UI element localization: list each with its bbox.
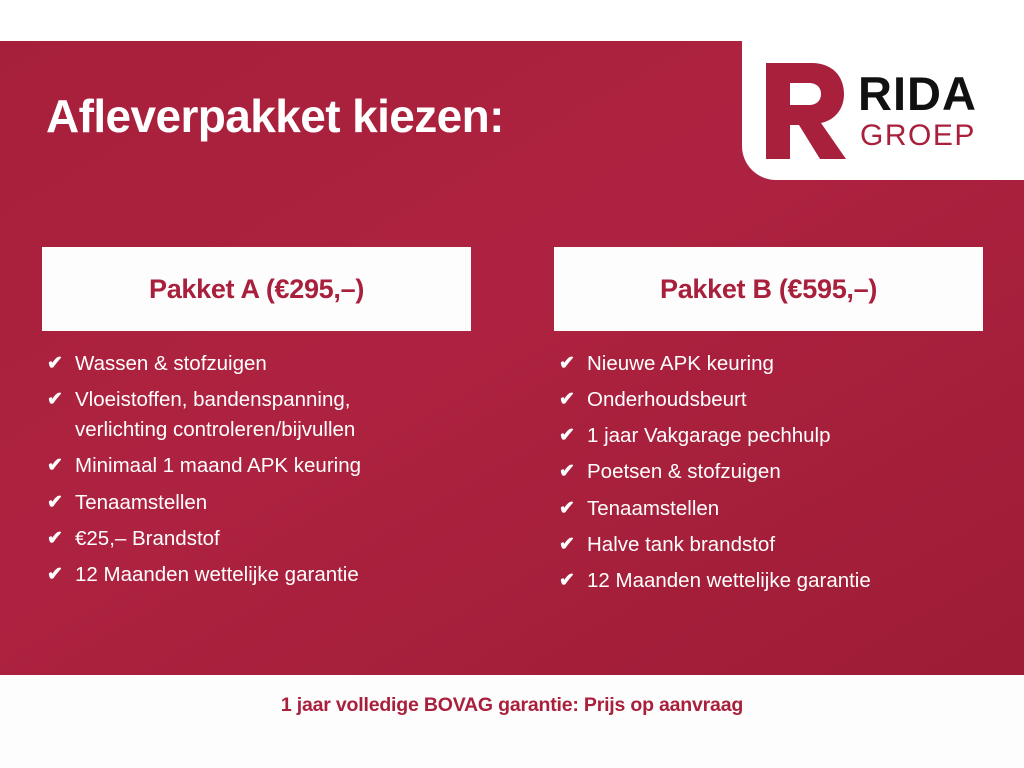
package-a-title: Pakket A (€295,–) (149, 274, 364, 305)
feature-label: Tenaamstellen (75, 488, 207, 518)
list-item: ✔ Wassen & stofzuigen (44, 349, 471, 379)
check-icon: ✔ (556, 530, 578, 559)
list-item: ✔ 12 Maanden wettelijke garantie (556, 566, 983, 596)
footer-bar: 1 jaar volledige BOVAG garantie: Prijs o… (0, 675, 1024, 768)
check-icon: ✔ (44, 524, 66, 553)
feature-label: Nieuwe APK keuring (587, 349, 774, 379)
slide-canvas: RIDA GROEP Afleverpakket kiezen: Pakket … (0, 0, 1024, 768)
list-item: ✔ 1 jaar Vakgarage pechhulp (556, 421, 983, 451)
package-column-b: Pakket B (€595,–) ✔ Nieuwe APK keuring ✔… (554, 247, 983, 602)
packages-container: Pakket A (€295,–) ✔ Wassen & stofzuigen … (0, 247, 1024, 647)
feature-label: 1 jaar Vakgarage pechhulp (587, 421, 831, 451)
rida-r-monogram-icon (756, 59, 848, 163)
list-item: ✔ 12 Maanden wettelijke garantie (44, 560, 471, 590)
check-icon: ✔ (44, 451, 66, 480)
feature-label: Vloeistoffen, bandenspanning, verlichtin… (75, 385, 355, 445)
feature-label: Wassen & stofzuigen (75, 349, 267, 379)
check-icon: ✔ (556, 385, 578, 414)
list-item: ✔ Poetsen & stofzuigen (556, 457, 983, 487)
check-icon: ✔ (556, 566, 578, 595)
feature-label: Tenaamstellen (587, 494, 719, 524)
brand-wordmark: RIDA GROEP (858, 70, 977, 151)
check-icon: ✔ (44, 560, 66, 589)
package-b-title: Pakket B (€595,–) (660, 274, 877, 305)
feature-label: 12 Maanden wettelijke garantie (587, 566, 871, 596)
list-item: ✔ Tenaamstellen (556, 494, 983, 524)
feature-label: 12 Maanden wettelijke garantie (75, 560, 359, 590)
top-white-strip (0, 0, 1024, 41)
list-item: ✔ Nieuwe APK keuring (556, 349, 983, 379)
package-column-a: Pakket A (€295,–) ✔ Wassen & stofzuigen … (42, 247, 471, 596)
brand-logo-plate[interactable]: RIDA GROEP (742, 41, 1024, 180)
package-a-header-card[interactable]: Pakket A (€295,–) (42, 247, 471, 331)
check-icon: ✔ (556, 349, 578, 378)
feature-label: Minimaal 1 maand APK keuring (75, 451, 361, 481)
package-a-feature-list: ✔ Wassen & stofzuigen ✔ Vloeistoffen, ba… (42, 331, 471, 590)
list-item: ✔ €25,– Brandstof (44, 524, 471, 554)
brand-name-secondary: GROEP (860, 121, 977, 151)
list-item: ✔ Halve tank brandstof (556, 530, 983, 560)
package-b-feature-list: ✔ Nieuwe APK keuring ✔ Onderhoudsbeurt ✔… (554, 331, 983, 596)
check-icon: ✔ (44, 488, 66, 517)
page-title: Afleverpakket kiezen: (46, 89, 504, 143)
feature-label: Halve tank brandstof (587, 530, 775, 560)
list-item: ✔ Vloeistoffen, bandenspanning, verlicht… (44, 385, 471, 445)
check-icon: ✔ (44, 349, 66, 378)
check-icon: ✔ (556, 421, 578, 450)
feature-label: Onderhoudsbeurt (587, 385, 747, 415)
check-icon: ✔ (44, 385, 66, 414)
feature-label: Poetsen & stofzuigen (587, 457, 781, 487)
footer-note: 1 jaar volledige BOVAG garantie: Prijs o… (0, 694, 1024, 717)
check-icon: ✔ (556, 457, 578, 486)
main-red-panel: RIDA GROEP Afleverpakket kiezen: Pakket … (0, 41, 1024, 675)
check-icon: ✔ (556, 494, 578, 523)
feature-label: €25,– Brandstof (75, 524, 220, 554)
package-b-header-card[interactable]: Pakket B (€595,–) (554, 247, 983, 331)
list-item: ✔ Tenaamstellen (44, 488, 471, 518)
brand-name-primary: RIDA (858, 70, 977, 117)
list-item: ✔ Onderhoudsbeurt (556, 385, 983, 415)
list-item: ✔ Minimaal 1 maand APK keuring (44, 451, 471, 481)
